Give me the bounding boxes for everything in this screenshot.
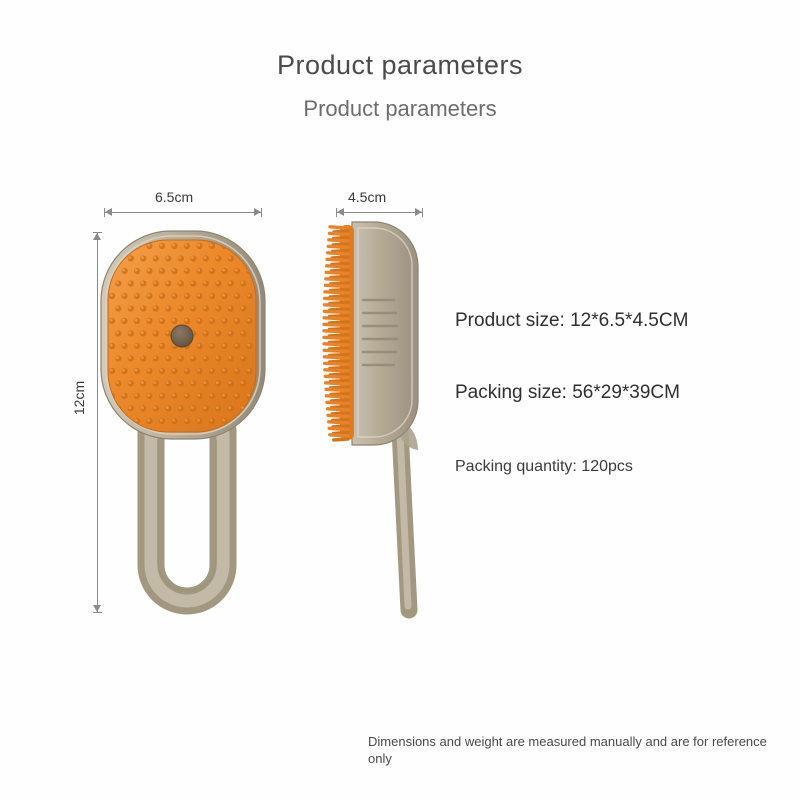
spec-packing-size: Packing size: 56*29*39CM	[455, 382, 680, 404]
front-view-center-hole	[171, 325, 193, 347]
front-view-nubs	[109, 243, 253, 424]
side-width-label: 4.5cm	[348, 189, 386, 205]
spec-product-size: Product size: 12*6.5*4.5CM	[455, 310, 688, 332]
front-view-right-teeth	[238, 290, 256, 384]
front-height-label: 12cm	[71, 381, 87, 415]
side-width-tick-right	[422, 208, 423, 217]
spec-packing-quantity: Packing quantity: 120pcs	[455, 458, 633, 476]
front-width-arrow-left	[105, 208, 112, 216]
page-title: Product parameters	[0, 50, 800, 81]
front-height-line	[97, 232, 98, 612]
front-view-handle	[151, 430, 223, 601]
front-view-left-teeth	[110, 290, 128, 384]
side-view-slots	[363, 300, 397, 365]
footnote: Dimensions and weight are measured manua…	[368, 733, 783, 767]
side-view-bristles	[324, 225, 354, 440]
side-view-body	[352, 222, 418, 445]
front-width-tick-right	[261, 208, 262, 217]
side-width-line	[336, 212, 422, 213]
front-width-line	[104, 212, 261, 213]
front-width-arrow-right	[254, 208, 261, 216]
front-view-body	[101, 231, 265, 439]
front-height-tick-bottom	[93, 612, 102, 613]
side-width-arrow-right	[415, 208, 422, 216]
front-height-arrow-top	[93, 233, 101, 240]
product-parameters-page: Product parameters Product parameters	[0, 0, 800, 800]
side-width-arrow-left	[337, 208, 344, 216]
front-view-silicone-pad	[108, 240, 256, 432]
side-view-handle	[396, 420, 418, 610]
front-width-label: 6.5cm	[155, 189, 193, 205]
front-height-arrow-bottom	[93, 605, 101, 612]
page-subtitle: Product parameters	[0, 96, 800, 122]
